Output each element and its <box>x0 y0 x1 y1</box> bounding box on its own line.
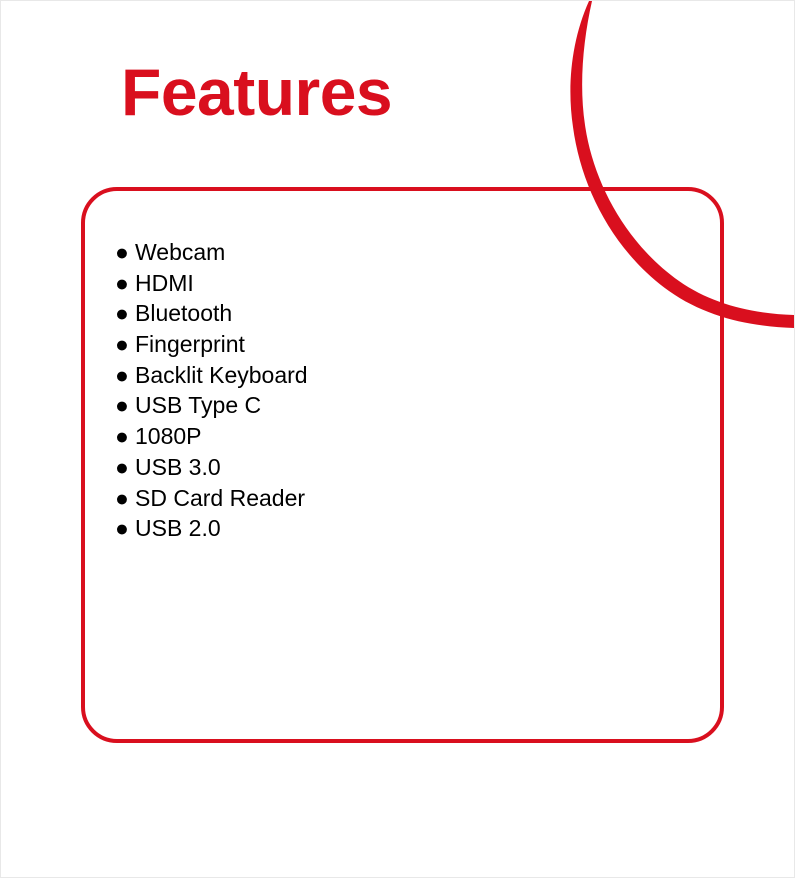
bullet-icon: ● <box>115 452 129 483</box>
features-slide: Features ● Webcam ● HDMI ● Bluetooth ● F… <box>0 0 795 878</box>
list-item-label: USB 3.0 <box>135 454 221 480</box>
list-item-label: Backlit Keyboard <box>135 362 308 388</box>
bullet-icon: ● <box>115 483 129 514</box>
list-item-label: SD Card Reader <box>135 485 305 511</box>
bullet-icon: ● <box>115 360 129 391</box>
list-item-label: USB 2.0 <box>135 515 221 541</box>
list-item: ● 1080P <box>115 421 308 452</box>
bullet-icon: ● <box>115 513 129 544</box>
bullet-icon: ● <box>115 329 129 360</box>
list-item-label: Webcam <box>135 239 225 265</box>
list-item: ● Webcam <box>115 237 308 268</box>
list-item: ● USB 2.0 <box>115 513 308 544</box>
bullet-icon: ● <box>115 390 129 421</box>
bullet-icon: ● <box>115 268 129 299</box>
list-item-label: Bluetooth <box>135 300 232 326</box>
feature-list: ● Webcam ● HDMI ● Bluetooth ● Fingerprin… <box>115 237 308 544</box>
list-item-label: Fingerprint <box>135 331 245 357</box>
list-item: ● HDMI <box>115 268 308 299</box>
list-item: ● SD Card Reader <box>115 483 308 514</box>
bullet-icon: ● <box>115 298 129 329</box>
page-title: Features <box>121 59 392 125</box>
list-item-label: HDMI <box>135 270 194 296</box>
list-item-label: USB Type C <box>135 392 261 418</box>
list-item: ● Fingerprint <box>115 329 308 360</box>
list-item: ● Backlit Keyboard <box>115 360 308 391</box>
list-item: ● Bluetooth <box>115 298 308 329</box>
bullet-icon: ● <box>115 237 129 268</box>
list-item-label: 1080P <box>135 423 202 449</box>
bullet-icon: ● <box>115 421 129 452</box>
list-item: ● USB 3.0 <box>115 452 308 483</box>
list-item: ● USB Type C <box>115 390 308 421</box>
